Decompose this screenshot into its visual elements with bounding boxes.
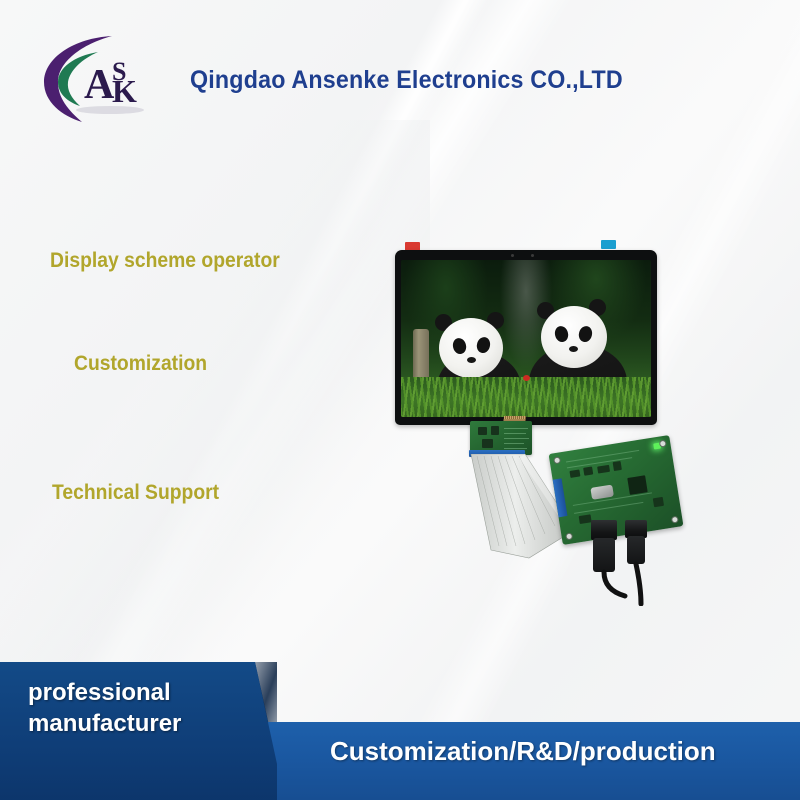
blue-protective-tab-icon [601, 240, 616, 249]
ask-logo-icon: A S K [38, 32, 166, 128]
mount-hole [659, 440, 667, 448]
bezel-sensor-dot-1 [511, 254, 514, 257]
panda-snout [569, 346, 578, 352]
lcd-panel [395, 250, 657, 425]
panda-head [439, 318, 503, 378]
lcd-screen-image [401, 260, 651, 417]
pcb-trace [504, 433, 526, 434]
pcb-component [583, 466, 593, 475]
pcb-trace [504, 448, 527, 449]
svg-text:K: K [112, 73, 137, 109]
pcb-trace [504, 443, 524, 444]
grass-foreground [401, 377, 651, 417]
poster-header: A S K Qingdao Ansenke Electronics CO.,LT… [0, 0, 800, 150]
panda-head [541, 306, 607, 368]
banner-left-text: professional manufacturer [28, 678, 248, 739]
marketing-poster: A S K Qingdao Ansenke Electronics CO.,LT… [0, 0, 800, 800]
banner-right-text: Customization/R&D/production [330, 736, 716, 767]
background-sheen-diagonal-3 [0, 120, 430, 680]
pcb-trace [504, 438, 529, 439]
banner-left-line-2: manufacturer [28, 709, 248, 740]
panda-snout [467, 357, 476, 363]
io-connectors [585, 520, 675, 606]
pcb-component [482, 439, 493, 448]
main-ic-chip [627, 475, 647, 495]
pcb-component [597, 465, 610, 474]
pcb-trace [566, 450, 639, 463]
banner-left-line-1: professional [28, 678, 248, 709]
feature-display-scheme-operator: Display scheme operator [50, 249, 280, 273]
product-photo [395, 238, 695, 568]
pcb-component [569, 469, 580, 477]
bottom-banner: professional manufacturer Customization/… [0, 640, 800, 800]
red-berry [523, 375, 530, 381]
company-logo: A S K [38, 32, 166, 128]
feature-technical-support: Technical Support [52, 481, 219, 505]
mount-hole [553, 456, 561, 464]
pcb-component [478, 427, 487, 435]
mount-hole [565, 532, 573, 540]
pcb-trace [504, 428, 528, 429]
pcb-component [491, 426, 499, 435]
cable-bundle [585, 520, 675, 606]
bezel-sensor-dot-2 [531, 254, 534, 257]
pcb-component [653, 497, 664, 507]
company-name-title: Qingdao Ansenke Electronics CO.,LTD [190, 66, 623, 95]
crystal-oscillator [590, 485, 614, 500]
pcb-component [613, 461, 622, 471]
feature-customization: Customization [74, 352, 207, 376]
svg-text:A: A [84, 62, 115, 108]
